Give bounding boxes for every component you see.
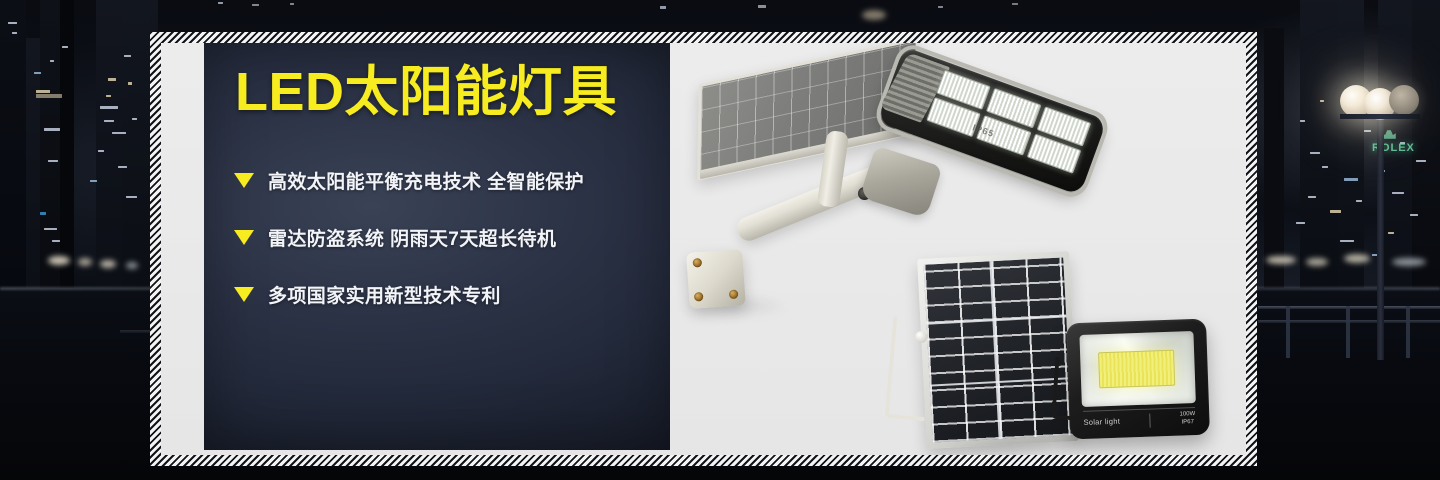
window-light — [34, 72, 41, 74]
window-light — [112, 132, 126, 134]
railing-post — [1286, 306, 1290, 358]
window-light — [98, 150, 104, 152]
waterfront-light — [78, 258, 92, 266]
window-light — [118, 166, 127, 168]
window-light — [862, 10, 886, 20]
waterfront-light — [1344, 254, 1370, 263]
window-light — [1012, 3, 1018, 5]
street-light-joint — [859, 146, 942, 219]
window-light — [40, 212, 46, 215]
label-divider — [1149, 413, 1150, 427]
window-light — [660, 6, 666, 9]
window-light — [1300, 120, 1305, 122]
product-stage: IP65 Solar light 100W IP67 — [670, 43, 1246, 455]
window-light — [132, 118, 137, 120]
flood-light-stand — [1051, 357, 1077, 420]
triangle-down-icon — [234, 287, 254, 302]
window-light — [1344, 178, 1358, 181]
window-light — [126, 196, 137, 198]
window-light — [252, 4, 259, 6]
flood-light-spec-label: 100W IP67 — [1179, 411, 1195, 427]
window-light — [1340, 240, 1354, 242]
feature-bullet-list: 高效太阳能平衡充电技术 全智能保护 雷达防盗系统 阴雨天7天超长待机 多项国家实… — [234, 165, 664, 336]
window-light — [106, 95, 111, 97]
window-light — [1322, 166, 1328, 168]
window-light — [44, 228, 57, 230]
railing-post — [1406, 306, 1410, 358]
window-light — [8, 22, 17, 24]
window-light — [1330, 210, 1341, 213]
railing-post — [1346, 306, 1350, 358]
window-light — [108, 78, 116, 81]
flood-light-label-row: Solar light 100W IP67 — [1083, 407, 1196, 430]
waterfront-light — [126, 262, 138, 269]
waterfront-light — [100, 260, 116, 268]
window-light — [1416, 160, 1426, 162]
flood-light-watt: 100W — [1179, 411, 1195, 418]
mount-screw-icon — [693, 258, 703, 268]
window-light — [1308, 196, 1316, 198]
waterfront-light — [48, 256, 70, 265]
window-light — [1388, 232, 1394, 234]
waterfront-light — [1266, 256, 1296, 264]
feature-text: 多项国家实用新型技术专利 — [268, 281, 501, 308]
window-light — [1356, 200, 1362, 202]
window-light — [44, 128, 60, 131]
window-light — [48, 160, 58, 162]
window-light — [90, 180, 97, 182]
triangle-down-icon — [234, 173, 254, 188]
flood-light-reflector — [1079, 331, 1195, 407]
street-light-wall-mount — [686, 249, 746, 309]
list-item: 雷达防盗系统 阴雨天7天超长待机 — [234, 222, 664, 252]
product-flood-light: Solar light 100W IP67 — [1066, 319, 1210, 440]
window-light — [1320, 100, 1324, 102]
window-light — [758, 5, 766, 8]
background-tower — [122, 0, 150, 288]
list-item: 多项国家实用新型技术专利 — [234, 279, 664, 309]
flood-light-ip-rating: IP67 — [1181, 419, 1194, 425]
window-light — [290, 3, 294, 5]
mount-screw-icon — [729, 290, 739, 300]
waterfront-light — [1392, 258, 1426, 266]
window-light — [50, 60, 54, 62]
window-light — [1296, 222, 1305, 224]
window-light — [128, 82, 132, 85]
window-light — [1410, 214, 1418, 216]
window-light — [124, 55, 131, 57]
window-light — [218, 2, 223, 4]
window-light — [36, 94, 62, 98]
flood-light-brand-label: Solar light — [1083, 417, 1120, 427]
window-light — [1392, 192, 1404, 194]
mount-screw-icon — [694, 292, 704, 302]
window-light — [104, 120, 114, 122]
window-light — [100, 106, 118, 109]
headline-panel: LED太阳能灯具 高效太阳能平衡充电技术 全智能保护 雷达防盗系统 阴雨天7天超… — [204, 43, 670, 450]
background-tower — [1412, 0, 1440, 288]
window-light — [938, 6, 943, 8]
window-light — [62, 46, 68, 48]
background-lamp-globe — [1389, 85, 1419, 115]
flood-light-cob-chip — [1098, 350, 1175, 389]
window-light — [1364, 130, 1371, 132]
page-title: LED太阳能灯具 — [235, 65, 617, 119]
window-light — [52, 240, 60, 242]
background-tower — [0, 0, 26, 288]
background-street-lamp-pole — [1377, 110, 1384, 360]
waterfront-light — [1306, 258, 1328, 266]
background-tower — [1338, 0, 1364, 288]
triangle-down-icon — [234, 230, 254, 245]
background-lamp-crossbar — [1340, 114, 1420, 119]
window-light — [1310, 152, 1320, 154]
window-light — [36, 90, 50, 93]
window-light — [12, 32, 17, 34]
product-solar-panel — [917, 251, 1079, 449]
background-tower — [1264, 28, 1284, 288]
list-item: 高效太阳能平衡充电技术 全智能保护 — [234, 165, 664, 195]
feature-text: 高效太阳能平衡充电技术 全智能保护 — [268, 167, 584, 194]
feature-text: 雷达防盗系统 阴雨天7天超长待机 — [268, 224, 556, 251]
